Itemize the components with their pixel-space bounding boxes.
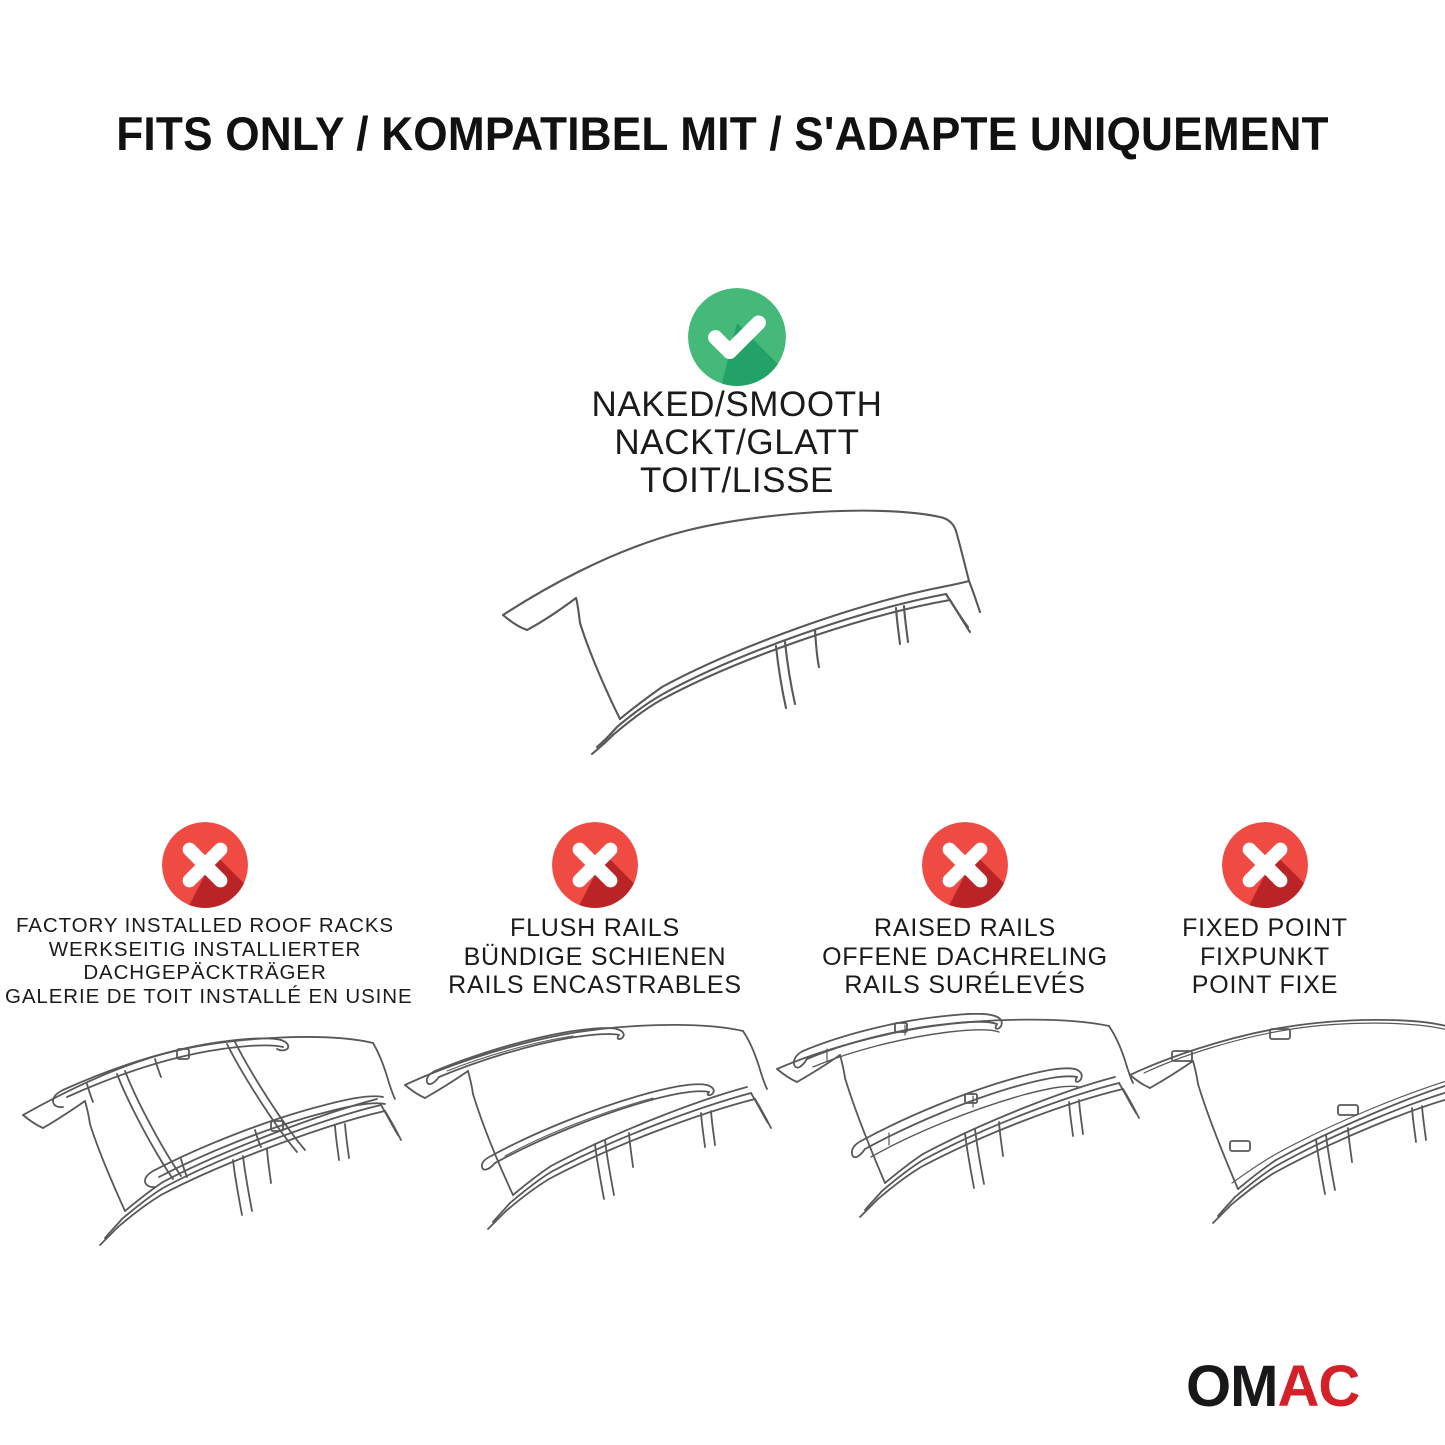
caption-line-4: GALERIE DE TOIT INSTALLÉ EN USINE	[5, 985, 405, 1009]
incompatible-caption: FLUSH RAILS BÜNDIGE SCHIENEN RAILS ENCAS…	[395, 914, 795, 1000]
car-roof-bare-illustration	[480, 495, 1000, 760]
caption-line-1: FLUSH RAILS	[395, 914, 795, 943]
omac-logo: OMAC	[1186, 1355, 1418, 1419]
omac-logo-text: OMAC	[1186, 1355, 1418, 1419]
caption-line-2: FIXPUNKT	[1065, 943, 1445, 972]
compatible-line-1: NAKED/SMOOTH	[487, 386, 987, 424]
x-circle-icon	[552, 822, 638, 908]
omac-logo-dark-part: OM	[1186, 1354, 1277, 1419]
x-circle-icon	[162, 822, 248, 908]
caption-line-3: POINT FIXE	[1065, 971, 1445, 1000]
omac-logo-red-part: AC	[1277, 1354, 1359, 1419]
infographic-page: FITS ONLY / KOMPATIBEL MIT / S'ADAPTE UN…	[0, 0, 1445, 1445]
x-circle-icon	[1222, 822, 1308, 908]
car-roof-factory-racks-illustration	[5, 1013, 405, 1248]
car-roof-flush-rails-illustration	[395, 1013, 795, 1248]
page-title: FITS ONLY / KOMPATIBEL MIT / S'ADAPTE UN…	[43, 106, 1401, 161]
caption-line-2: WERKSEITIG INSTALLIERTER	[5, 938, 405, 962]
compatible-line-2: NACKT/GLATT	[487, 424, 987, 462]
incompatible-item-flush-rails: FLUSH RAILS BÜNDIGE SCHIENEN RAILS ENCAS…	[395, 818, 795, 1248]
incompatible-caption: FIXED POINT FIXPUNKT POINT FIXE	[1065, 914, 1445, 1000]
caption-line-2: BÜNDIGE SCHIENEN	[395, 943, 795, 972]
caption-line-3: RAILS ENCASTRABLES	[395, 971, 795, 1000]
incompatible-item-factory-roof-racks: FACTORY INSTALLED ROOF RACKS WERKSEITIG …	[5, 818, 405, 1248]
x-circle-icon	[922, 822, 1008, 908]
incompatible-item-fixed-point: FIXED POINT FIXPUNKT POINT FIXE	[1065, 818, 1445, 1248]
compatible-caption: NAKED/SMOOTH NACKT/GLATT TOIT/LISSE	[487, 386, 987, 500]
caption-line-3: DACHGEPÄCKTRÄGER	[5, 961, 405, 985]
car-roof-fixed-point-illustration	[1120, 1013, 1445, 1248]
caption-line-1: FACTORY INSTALLED ROOF RACKS	[5, 914, 405, 938]
check-circle-icon	[688, 288, 786, 386]
incompatible-caption: FACTORY INSTALLED ROOF RACKS WERKSEITIG …	[5, 914, 405, 1008]
caption-line-1: FIXED POINT	[1065, 914, 1445, 943]
